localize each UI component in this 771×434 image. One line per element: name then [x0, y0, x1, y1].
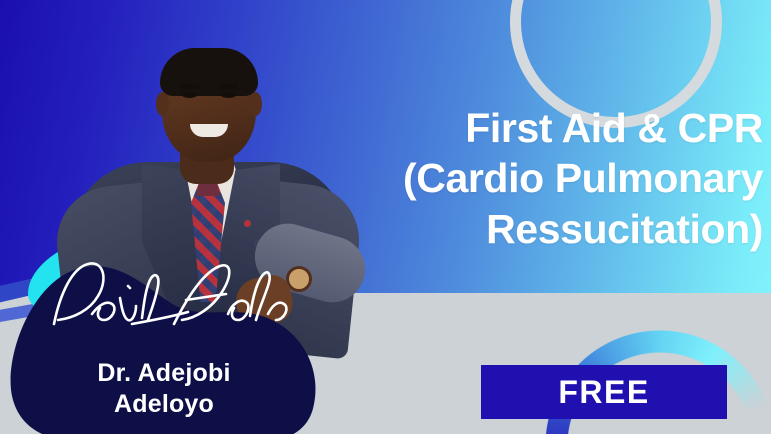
presenter-name-label: Dr. Adejobi Adeloyo — [8, 358, 320, 420]
banner-title: First Aid & CPR (Cardio Pulmonary Ressuc… — [236, 103, 763, 254]
badge-label: FREE — [558, 374, 649, 411]
course-promo-banner: First Aid & CPR (Cardio Pulmonary Ressuc… — [0, 0, 771, 434]
status-badge: FREE — [481, 365, 727, 419]
